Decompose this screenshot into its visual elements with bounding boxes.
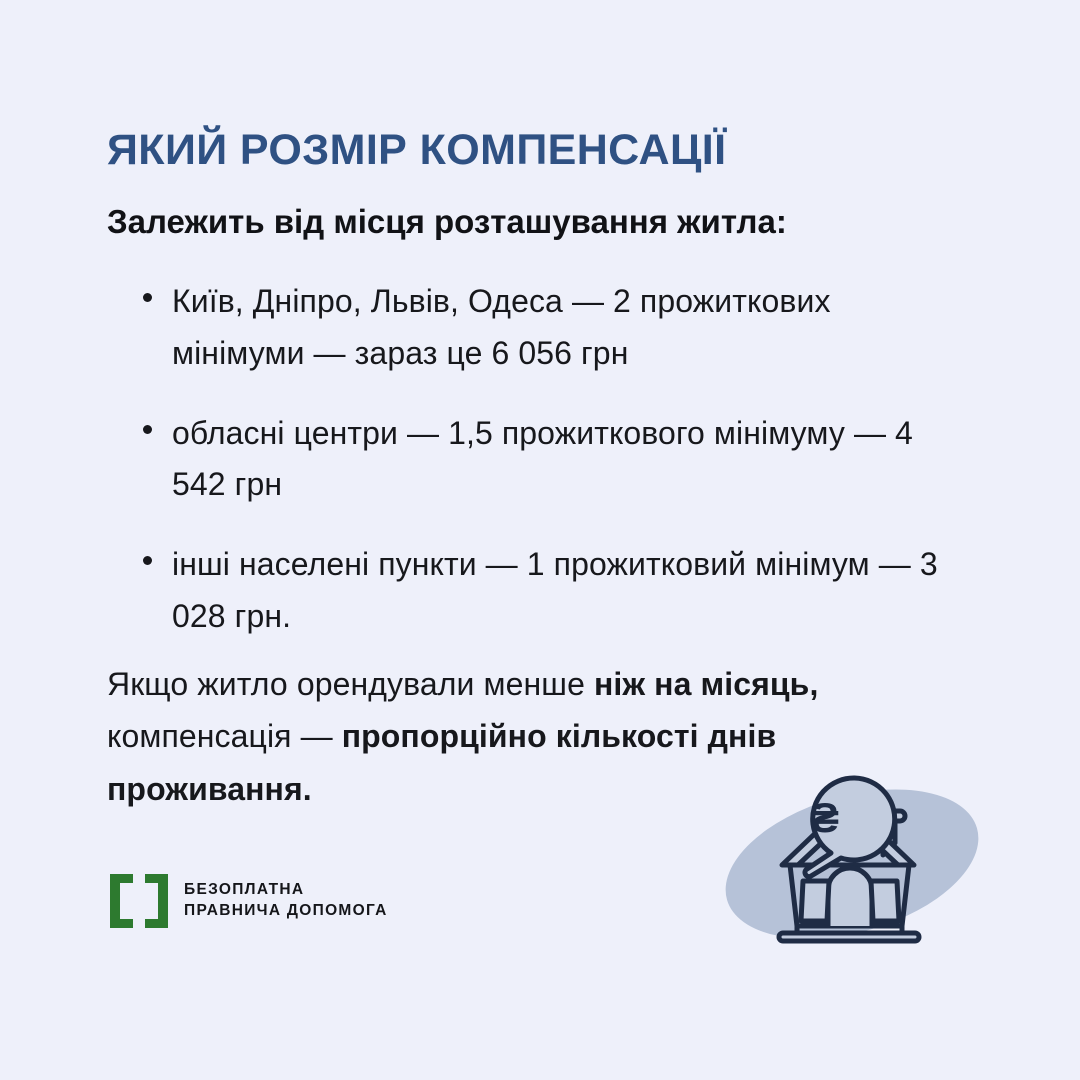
closing-text-part-1: Якщо житло орендували менше — [107, 666, 594, 702]
window-right-icon — [871, 881, 899, 921]
bullet-dot-icon — [143, 293, 152, 302]
house-base-icon — [779, 933, 919, 941]
subtitle: Залежить від місця розташування житла: — [107, 202, 787, 242]
logo-text-line-1: БЕЗОПЛАТНА — [184, 880, 388, 901]
closing-text-part-3: компенсація — — [107, 718, 342, 754]
bracket-mark-icon — [108, 872, 170, 930]
bullet-dot-icon — [143, 556, 152, 565]
bullet-list: Київ, Дніпро, Львів, Одеса — 2 прожитков… — [143, 276, 1003, 671]
list-item-text: Київ, Дніпро, Львів, Одеса — 2 прожитков… — [172, 276, 972, 380]
list-item: Київ, Дніпро, Львів, Одеса — 2 прожитков… — [143, 276, 1003, 380]
organization-logo: БЕЗОПЛАТНА ПРАВНИЧА ДОПОМОГА — [108, 872, 388, 930]
hryvnia-symbol-icon: ₴ — [811, 794, 839, 841]
list-item: обласні центри — 1,5 прожиткового мініму… — [143, 408, 1003, 512]
closing-text-part-2-bold: ніж на місяць, — [594, 666, 818, 702]
door-icon — [828, 868, 872, 926]
list-item-text: обласні центри — 1,5 прожиткового мініму… — [172, 408, 972, 512]
window-left-icon — [801, 881, 829, 921]
list-item: інші населені пункти — 1 прожитковий мін… — [143, 539, 1003, 643]
infographic-card: ЯКИЙ РОЗМІР КОМПЕНСАЦІЇ Залежить від міс… — [0, 0, 1080, 1080]
house-with-hryvnia-illustration: ₴ — [700, 758, 1000, 970]
page-title: ЯКИЙ РОЗМІР КОМПЕНСАЦІЇ — [107, 127, 726, 174]
logo-text: БЕЗОПЛАТНА ПРАВНИЧА ДОПОМОГА — [184, 880, 388, 922]
bullet-dot-icon — [143, 425, 152, 434]
logo-text-line-2: ПРАВНИЧА ДОПОМОГА — [184, 901, 388, 922]
list-item-text: інші населені пункти — 1 прожитковий мін… — [172, 539, 972, 643]
